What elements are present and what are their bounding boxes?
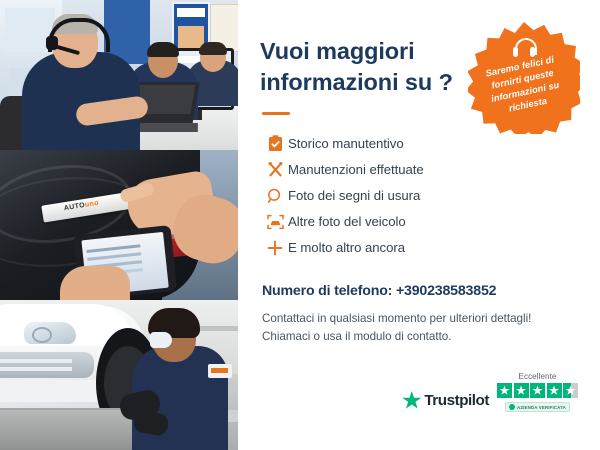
photo-column: AUTOuno (0, 0, 238, 450)
mechanic-mask-decor (150, 332, 172, 348)
title-divider (262, 112, 290, 115)
mechanic-wheel-photo (0, 300, 238, 450)
hand-holding-tablet-decor (60, 266, 130, 300)
headset-icon (513, 38, 535, 58)
list-item-label: Manutenzioni effettuate (288, 162, 424, 177)
star-filled-icon (530, 383, 545, 398)
headlight-decor (24, 322, 76, 344)
list-item[interactable]: Altre foto del veicolo (262, 209, 586, 235)
headline-line-1: Vuoi maggiori (260, 38, 415, 64)
list-item-label: E molto altro ancora (288, 240, 405, 255)
verified-business-badge: AZIENDA VERIFICATA (505, 402, 570, 412)
feature-list: Storico manutentivo Manutenzioni effettu… (262, 131, 586, 261)
trustpilot-star-icon (402, 391, 421, 410)
list-item-label: Altre foto del veicolo (288, 214, 406, 229)
car-grille-decor (0, 352, 94, 378)
callout-badge: Saremo felici di fornirti queste informa… (468, 22, 580, 134)
list-item[interactable]: E molto altro ancora (262, 235, 586, 261)
list-item[interactable]: Storico manutentivo (262, 131, 586, 157)
contact-subtext-line-2: Chiamaci o usa il modulo di contatto. (262, 330, 451, 343)
tools-cross-icon (262, 161, 288, 178)
plus-icon (262, 240, 288, 256)
trustpilot-stars (497, 383, 578, 398)
magnifier-icon (262, 188, 288, 204)
advertisement-banner: AUTOuno (0, 0, 600, 450)
contact-subtext-line-1: Contattaci in qualsiasi momento per ulte… (262, 312, 531, 325)
car-frame-icon (262, 214, 288, 230)
verified-label: AZIENDA VERIFICATA (517, 405, 566, 410)
headline-line-2: informazioni su ? (260, 69, 453, 95)
phone-number[interactable]: +390238583852 (396, 283, 496, 299)
vehicle-sticker-photo: AUTOuno (0, 150, 238, 300)
page-title: Vuoi maggiori informazioni su ? (260, 36, 470, 99)
star-filled-icon (547, 383, 562, 398)
call-center-photo (0, 0, 238, 150)
star-partial-icon (563, 383, 578, 398)
list-item[interactable]: Manutenzioni effettuate (262, 157, 586, 183)
star-filled-icon (497, 383, 512, 398)
clipboard-check-icon (262, 135, 288, 152)
worker-two-hair-decor (147, 42, 179, 57)
content-panel: Vuoi maggiori informazioni su ? Saremo f… (238, 0, 600, 450)
trustpilot-rating-label: Eccellente (519, 372, 557, 381)
verified-check-icon (509, 404, 515, 410)
star-filled-icon (514, 383, 529, 398)
phone-line[interactable]: Numero di telefono: +390238583852 (262, 283, 586, 299)
uniform-logo-decor (208, 364, 232, 378)
trustpilot-wordmark: Trustpilot (424, 392, 489, 409)
list-item[interactable]: Foto dei segni di usura (262, 183, 586, 209)
worker-three-hair-decor (199, 42, 227, 55)
list-item-label: Foto dei segni di usura (288, 188, 420, 203)
trustpilot-logo: Trustpilot (402, 391, 489, 412)
phone-label: Numero di telefono: (262, 283, 392, 299)
trustpilot-widget[interactable]: Trustpilot Eccellente AZIENDA VERIFICATA (402, 372, 578, 412)
list-item-label: Storico manutentivo (288, 136, 404, 151)
trustpilot-rating-block: Eccellente AZIENDA VERIFICATA (497, 372, 578, 412)
contact-subtext: Contattaci in qualsiasi momento per ulte… (262, 310, 582, 348)
